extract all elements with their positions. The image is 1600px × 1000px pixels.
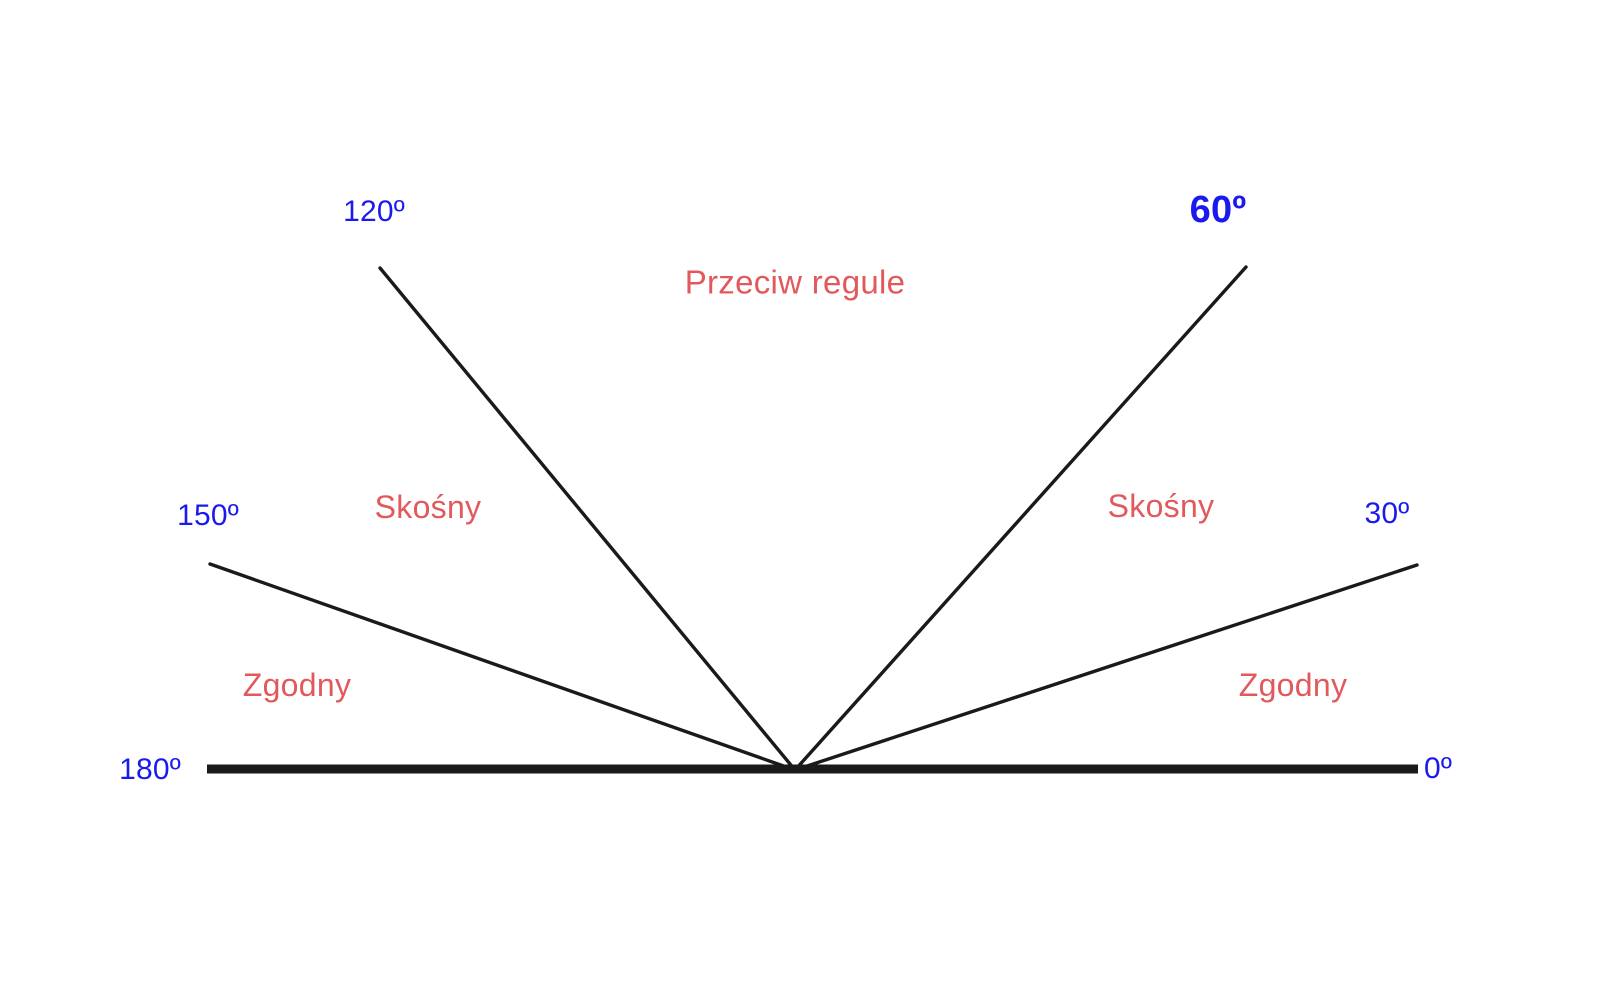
zone-label-skosny-right: Skośny <box>1108 490 1215 522</box>
angle-diagram-canvas: 180º 150º 120º 60º 30º 0º Zgodny Skośny … <box>0 0 1600 1000</box>
angle-label-60: 60º <box>1190 191 1247 229</box>
zone-label-zgodny-right: Zgodny <box>1239 669 1348 701</box>
angle-label-0: 0º <box>1424 754 1452 784</box>
angle-label-120: 120º <box>343 197 405 227</box>
zone-label-zgodny-left: Zgodny <box>243 669 352 701</box>
angle-label-150: 150º <box>177 501 239 531</box>
angle-label-30: 30º <box>1365 499 1410 529</box>
angle-label-180: 180º <box>119 755 181 785</box>
zone-label-skosny-left: Skośny <box>375 491 482 523</box>
ray-lines-group <box>0 0 1600 1000</box>
zone-label-przeciw-regule: Przeciw regule <box>685 266 906 299</box>
